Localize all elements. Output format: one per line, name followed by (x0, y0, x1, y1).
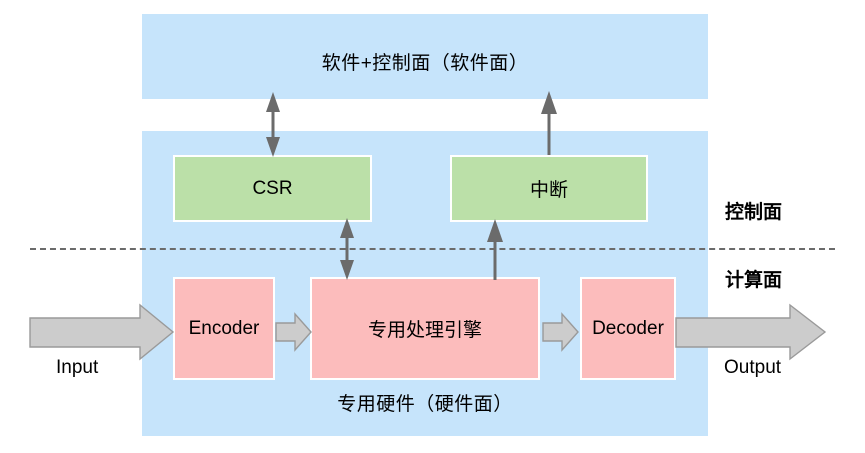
block-csr[interactable]: CSR (173, 155, 372, 222)
software-plane-panel: 软件+控制面（软件面） (142, 14, 708, 99)
diagram-canvas: 软件+控制面（软件面） 专用硬件（硬件面） CSR 中断 Encoder 专用处… (0, 0, 865, 453)
input-label: Input (56, 357, 98, 379)
software-plane-label: 软件+控制面（软件面） (142, 48, 708, 75)
block-engine[interactable]: 专用处理引擎 (310, 277, 540, 380)
block-encoder-label: Encoder (189, 318, 260, 340)
hardware-plane-label: 专用硬件（硬件面） (142, 389, 708, 416)
compute-plane-side-label: 计算面 (725, 265, 782, 292)
block-interrupt[interactable]: 中断 (450, 155, 648, 222)
block-encoder[interactable]: Encoder (173, 277, 275, 380)
block-csr-label: CSR (252, 178, 292, 200)
output-label: Output (724, 357, 781, 379)
block-interrupt-label: 中断 (530, 175, 568, 202)
plane-separator-dashed-line (30, 248, 835, 250)
block-engine-label: 专用处理引擎 (368, 315, 482, 342)
control-plane-side-label: 控制面 (725, 197, 782, 224)
block-decoder-label: Decoder (592, 318, 664, 340)
block-decoder[interactable]: Decoder (580, 277, 676, 380)
